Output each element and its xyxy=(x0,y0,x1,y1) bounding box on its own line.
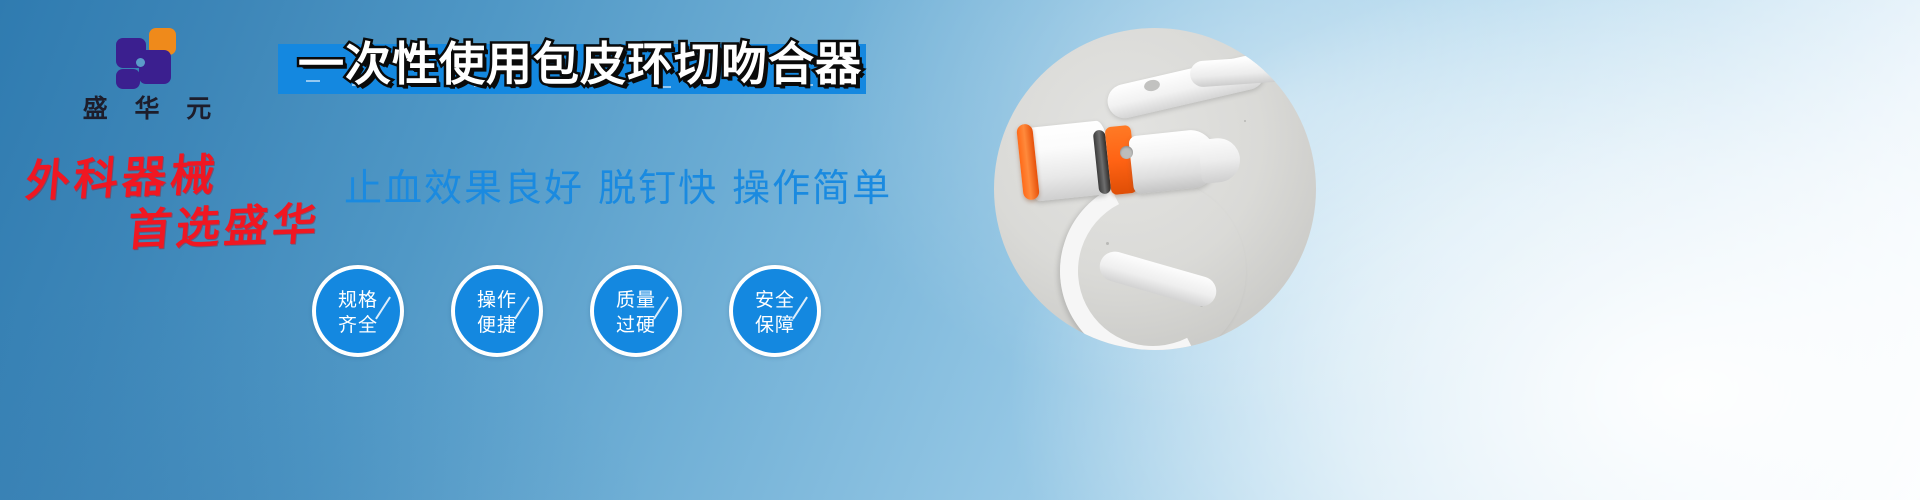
brand-logo[interactable]: 盛 华 元 xyxy=(62,28,232,121)
brand-name: 盛 华 元 xyxy=(62,96,232,121)
feature-label-line2: 保障 xyxy=(733,313,817,338)
feature-label-line2: 过硬 xyxy=(594,313,678,338)
slogan-line-1: 外科器械 xyxy=(24,154,221,205)
feature-label-line2: 便捷 xyxy=(455,313,539,338)
stapler-nose-tip xyxy=(1198,136,1242,184)
feature-circle-icon[interactable]: 质量 过硬 xyxy=(590,265,682,357)
disposable-circumcision-stapler-photo-icon xyxy=(994,28,1316,350)
feature-label-line2: 齐全 xyxy=(316,313,400,338)
stapler-pivot xyxy=(1120,146,1133,159)
feature-circle-icon[interactable]: 操作 便捷 xyxy=(451,265,543,357)
promo-banner: 盛 华 元 外科器械 首选盛华 一次性使用包皮环切吻合器 止血效果良好 脱钉快 … xyxy=(0,0,1920,500)
feature-label-line1: 安全 xyxy=(733,288,817,313)
stapler-upper-arm-tip xyxy=(1189,54,1299,87)
feature-label-line1: 质量 xyxy=(594,288,678,313)
feature-label-line1: 操作 xyxy=(455,288,539,313)
feature-circle-icon[interactable]: 规格 齐全 xyxy=(312,265,404,357)
feature-circle-list: 规格 齐全 操作 便捷 质量 过硬 安全 保障 xyxy=(312,265,862,361)
shenghuayuan-block-logo-icon xyxy=(116,28,178,90)
feature-label-line1: 规格 xyxy=(316,288,400,313)
slogan-line-2: 首选盛华 xyxy=(126,203,323,254)
page-title: 一次性使用包皮环切吻合器 xyxy=(290,36,870,92)
subtitle: 止血效果良好 脱钉快 操作简单 xyxy=(344,166,892,210)
feature-circle-icon[interactable]: 安全 保障 xyxy=(729,265,821,357)
